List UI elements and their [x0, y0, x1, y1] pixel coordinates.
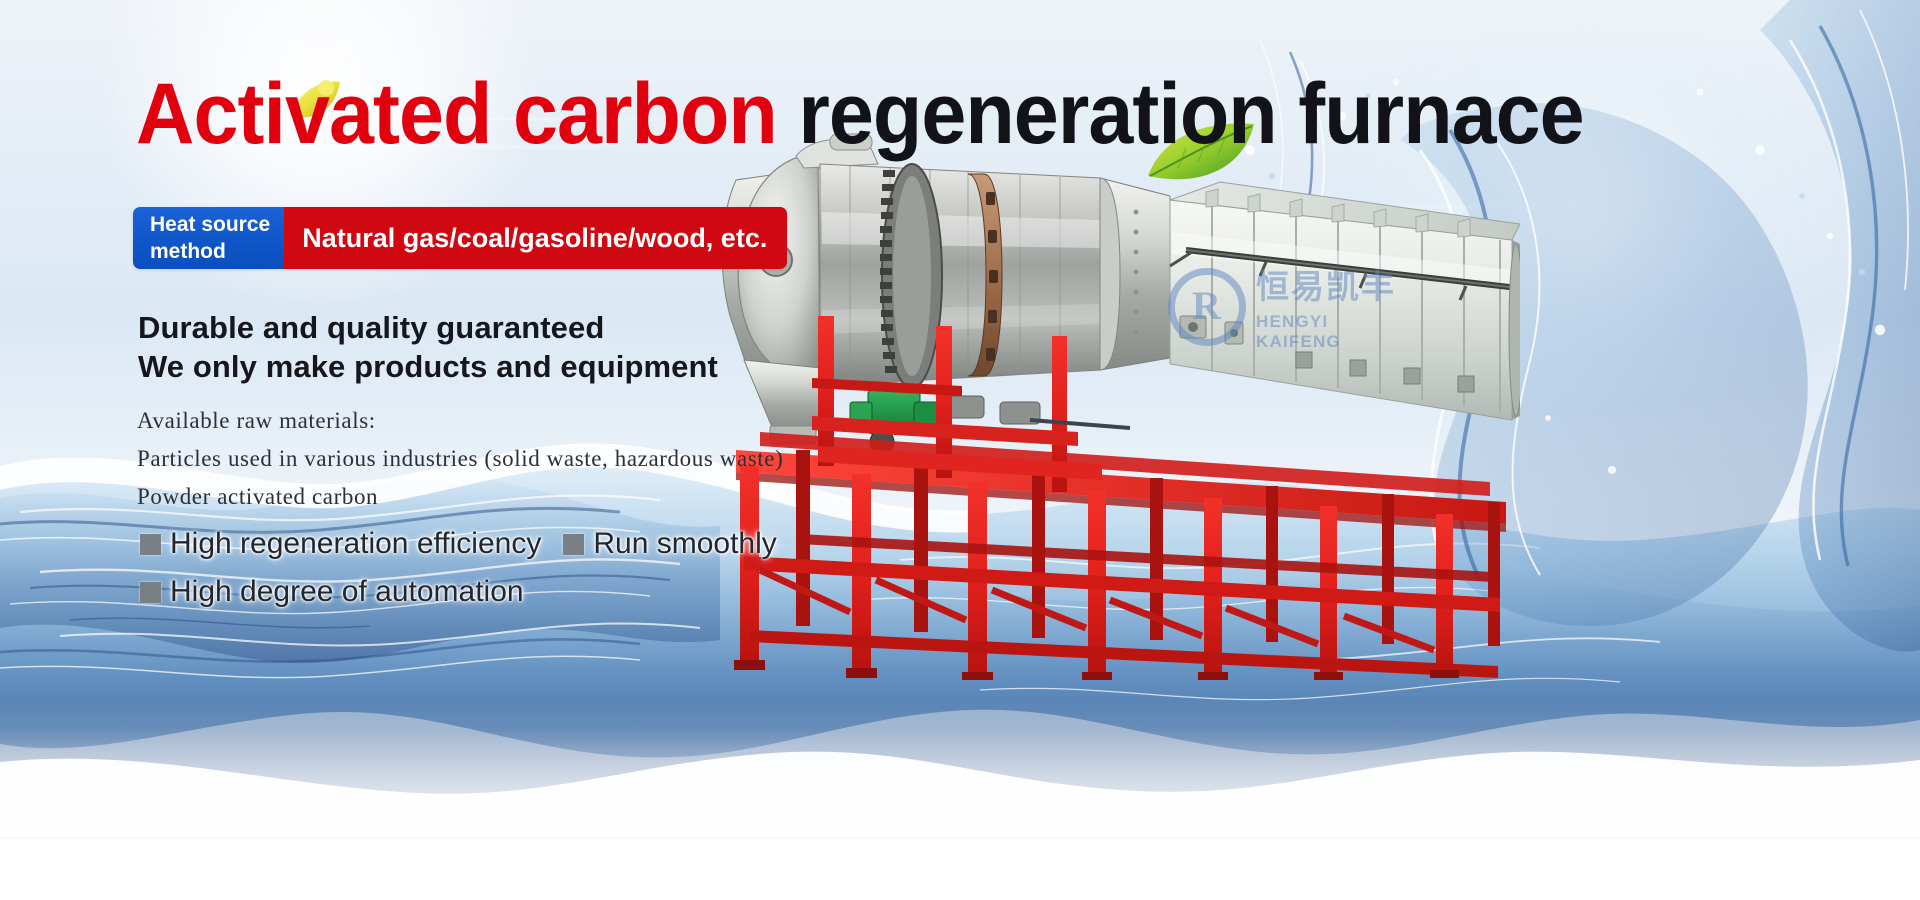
feature-item: High degree of automation [140, 576, 524, 608]
feature-item: Run smoothly [563, 528, 776, 560]
feature-list: High regeneration efficiency Run smoothl… [140, 520, 799, 616]
bullet-square-icon [140, 534, 161, 555]
subheading-line: Durable and quality guaranteed [138, 308, 718, 347]
subheadings: Durable and quality guaranteed We only m… [138, 308, 718, 386]
feature-label: High regeneration efficiency [170, 528, 541, 560]
heat-source-badge: Heat source method Natural gas/coal/gaso… [133, 207, 787, 269]
title-rest: regeneration furnace [777, 66, 1584, 162]
page-title: Activated carbon regeneration furnace [136, 68, 1584, 160]
feature-item: High regeneration efficiency [140, 528, 541, 560]
raw-materials-block: Available raw materials: Particles used … [137, 402, 783, 516]
heat-source-value: Natural gas/coal/gasoline/wood, etc. [284, 207, 787, 269]
materials-line: Available raw materials: [137, 402, 783, 440]
heat-source-label-line1: Heat source [150, 211, 270, 238]
banner-content: Activated carbon regeneration furnace He… [0, 0, 1920, 900]
feature-label: High degree of automation [170, 576, 524, 608]
bullet-square-icon [140, 582, 161, 603]
heat-source-label: Heat source method [133, 207, 284, 269]
feature-label: Run smoothly [593, 528, 776, 560]
subheading-line: We only make products and equipment [138, 347, 718, 386]
product-banner: R 恒易凯丰 HENGYI KAIFENG [0, 0, 1920, 900]
feature-row: High regeneration efficiency Run smoothl… [140, 520, 799, 568]
materials-line: Particles used in various industries (so… [137, 440, 783, 478]
bullet-square-icon [563, 534, 584, 555]
materials-line: Powder activated carbon [137, 478, 783, 516]
feature-row: High degree of automation [140, 568, 799, 616]
heat-source-label-line2: method [150, 238, 270, 265]
title-highlight: Activated carbon [136, 66, 777, 162]
